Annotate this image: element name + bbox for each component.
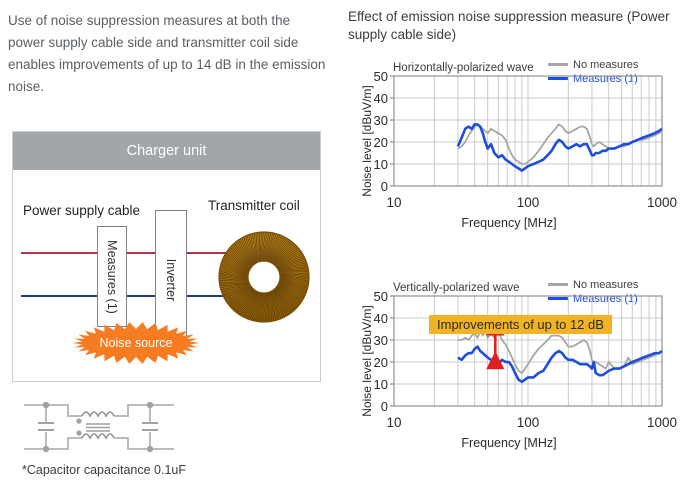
charger-unit-body: Power supply cable Transmitter coil Meas…: [13, 170, 320, 383]
svg-text:20: 20: [374, 135, 388, 150]
inverter-box-label: Inverter: [164, 259, 178, 301]
chart2-xlabel: Frequency [MHz]: [389, 436, 629, 450]
chart-vertically-polarized: No measures Measures (1) Vertically-pola…: [345, 278, 680, 490]
right-column: Effect of emission noise suppression mea…: [345, 0, 680, 490]
intro-paragraph: Use of noise suppression measures at bot…: [8, 10, 328, 98]
svg-text:40: 40: [374, 91, 388, 106]
svg-text:50: 50: [374, 69, 388, 84]
chart-horizontally-polarized: No measures Measures (1) Horizontally-po…: [345, 58, 680, 258]
svg-text:10: 10: [386, 415, 401, 430]
svg-text:100: 100: [517, 195, 540, 210]
svg-text:20: 20: [374, 355, 388, 370]
capacitor-note: *Capacitor capacitance 0.1uF: [22, 463, 186, 477]
left-column: Use of noise suppression measures at bot…: [0, 0, 340, 490]
noise-source-label: Noise source: [71, 321, 201, 365]
svg-text:0: 0: [381, 179, 388, 194]
noise-source-badge: Noise source: [71, 321, 201, 365]
chart1-xlabel: Frequency [MHz]: [389, 216, 629, 230]
chart1-plot: 01020304050101001000: [345, 58, 680, 233]
svg-text:100: 100: [517, 415, 540, 430]
measures-box-label: Measures (1): [105, 240, 119, 314]
svg-text:1000: 1000: [647, 415, 677, 430]
svg-text:50: 50: [374, 289, 388, 304]
chart2-plot: 01020304050101001000: [345, 278, 680, 453]
improvement-callout: Improvements of up to 12 dB: [429, 315, 612, 334]
svg-text:30: 30: [374, 113, 388, 128]
svg-text:30: 30: [374, 333, 388, 348]
charger-unit-header: Charger unit: [13, 132, 320, 170]
common-mode-filter-schematic: [22, 396, 177, 458]
svg-text:1000: 1000: [647, 195, 677, 210]
svg-text:10: 10: [374, 377, 388, 392]
transmitter-coil-label: Transmitter coil: [208, 198, 326, 213]
svg-text:10: 10: [374, 157, 388, 172]
charger-unit-diagram: Charger unit Power supply cable Transmit…: [12, 131, 321, 382]
measures-box: Measures (1): [97, 226, 127, 327]
charts-title: Effect of emission noise suppression mea…: [348, 8, 678, 44]
svg-text:40: 40: [374, 311, 388, 326]
toroidal-coil-icon: [218, 231, 310, 323]
svg-text:10: 10: [386, 195, 401, 210]
power-supply-cable-label: Power supply cable: [23, 202, 143, 220]
svg-text:0: 0: [381, 399, 388, 414]
